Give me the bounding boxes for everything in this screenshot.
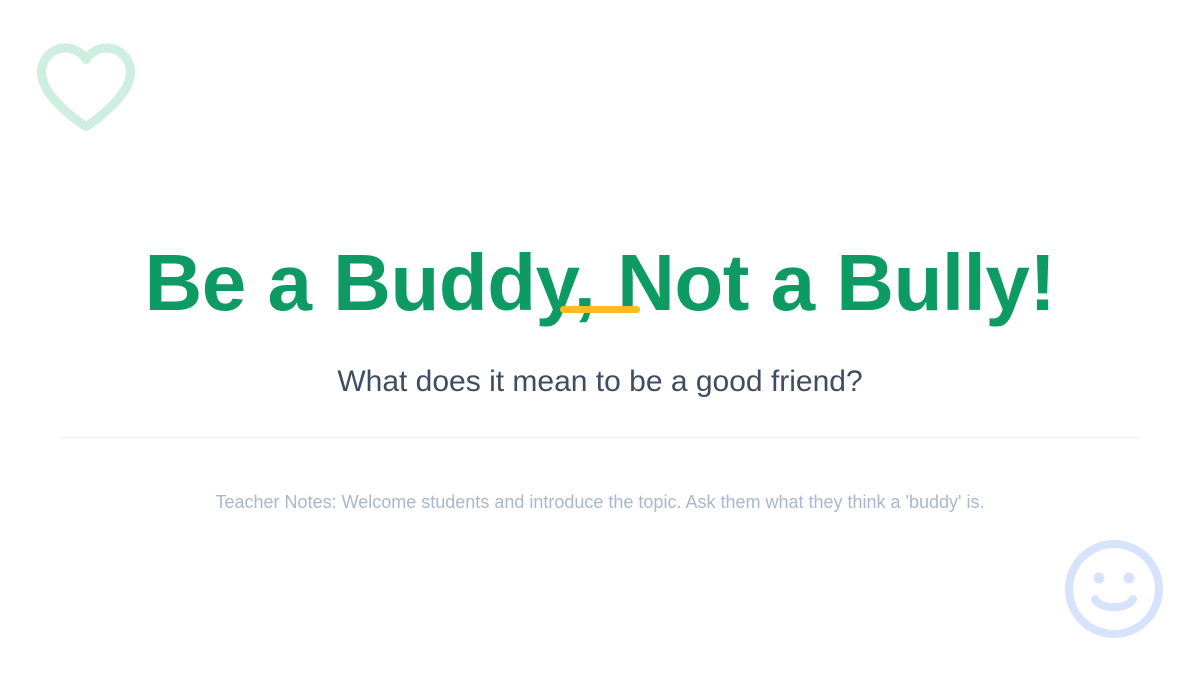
slide-subtitle: What does it mean to be a good friend? bbox=[0, 362, 1200, 403]
heart-icon bbox=[33, 41, 139, 133]
teacher-notes: Teacher Notes: Welcome students and intr… bbox=[0, 489, 1200, 515]
accent-divider-bar bbox=[560, 306, 640, 313]
page-title: Be a Buddy, Not a Bully! bbox=[0, 240, 1200, 326]
slide-canvas: Be a Buddy, Not a Bully! What does it me… bbox=[0, 0, 1200, 675]
horizontal-divider bbox=[60, 437, 1140, 438]
smiley-face-icon bbox=[1062, 537, 1166, 641]
